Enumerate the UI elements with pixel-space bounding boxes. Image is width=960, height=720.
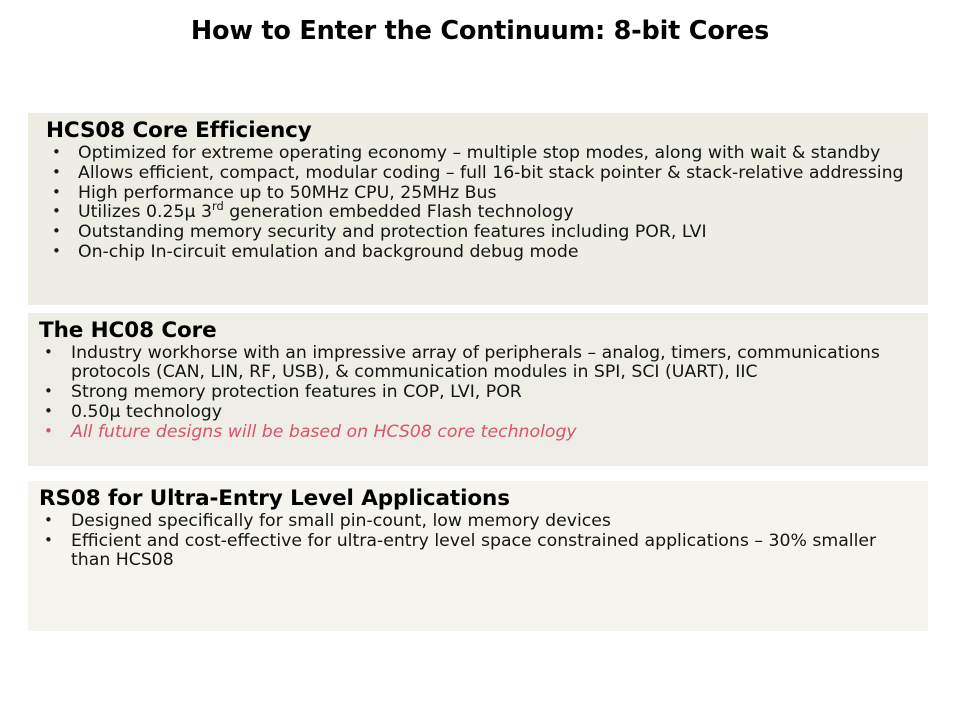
panel-heading-hc08: The HC08 Core (39, 319, 918, 343)
list-item-highlighted: All future designs will be based on HCS0… (38, 423, 918, 442)
list-item: Industry workhorse with an impressive ar… (38, 344, 918, 383)
list-item: Outstanding memory security and protecti… (38, 223, 918, 242)
bullet-list-hc08: Industry workhorse with an impressive ar… (38, 344, 918, 442)
panel-hc08-core: The HC08 Core Industry workhorse with an… (28, 313, 928, 466)
panel-rs08-ultra-entry: RS08 for Ultra-Entry Level Applications … (28, 481, 928, 631)
list-item: Efficient and cost-effective for ultra-e… (38, 532, 918, 571)
bullet-list-rs08: Designed specifically for small pin-coun… (38, 512, 918, 570)
bullet-list-hcs08: Optimized for extreme operating economy … (38, 144, 918, 262)
list-item: Strong memory protection features in COP… (38, 383, 918, 402)
list-item-text-suffix: generation embedded Flash technology (224, 202, 574, 222)
panel-hcs08-core-efficiency: HCS08 Core Efficiency Optimized for extr… (28, 113, 928, 305)
list-item: High performance up to 50MHz CPU, 25MHz … (38, 184, 918, 203)
panel-heading-rs08: RS08 for Ultra-Entry Level Applications (39, 487, 918, 511)
list-item: On-chip In-circuit emulation and backgro… (38, 243, 918, 262)
list-item-text-prefix: Utilizes 0.25µ 3 (78, 202, 212, 222)
list-item: Optimized for extreme operating economy … (38, 144, 918, 163)
list-item: 0.50µ technology (38, 403, 918, 422)
ordinal-suffix: rd (212, 200, 224, 214)
list-item: Allows efficient, compact, modular codin… (38, 164, 918, 183)
list-item: Designed specifically for small pin-coun… (38, 512, 918, 531)
list-item: Utilizes 0.25µ 3rd generation embedded F… (38, 203, 918, 222)
slide-title: How to Enter the Continuum: 8-bit Cores (0, 16, 960, 46)
slide-canvas: How to Enter the Continuum: 8-bit Cores … (0, 0, 960, 720)
panel-heading-hcs08: HCS08 Core Efficiency (46, 119, 918, 143)
